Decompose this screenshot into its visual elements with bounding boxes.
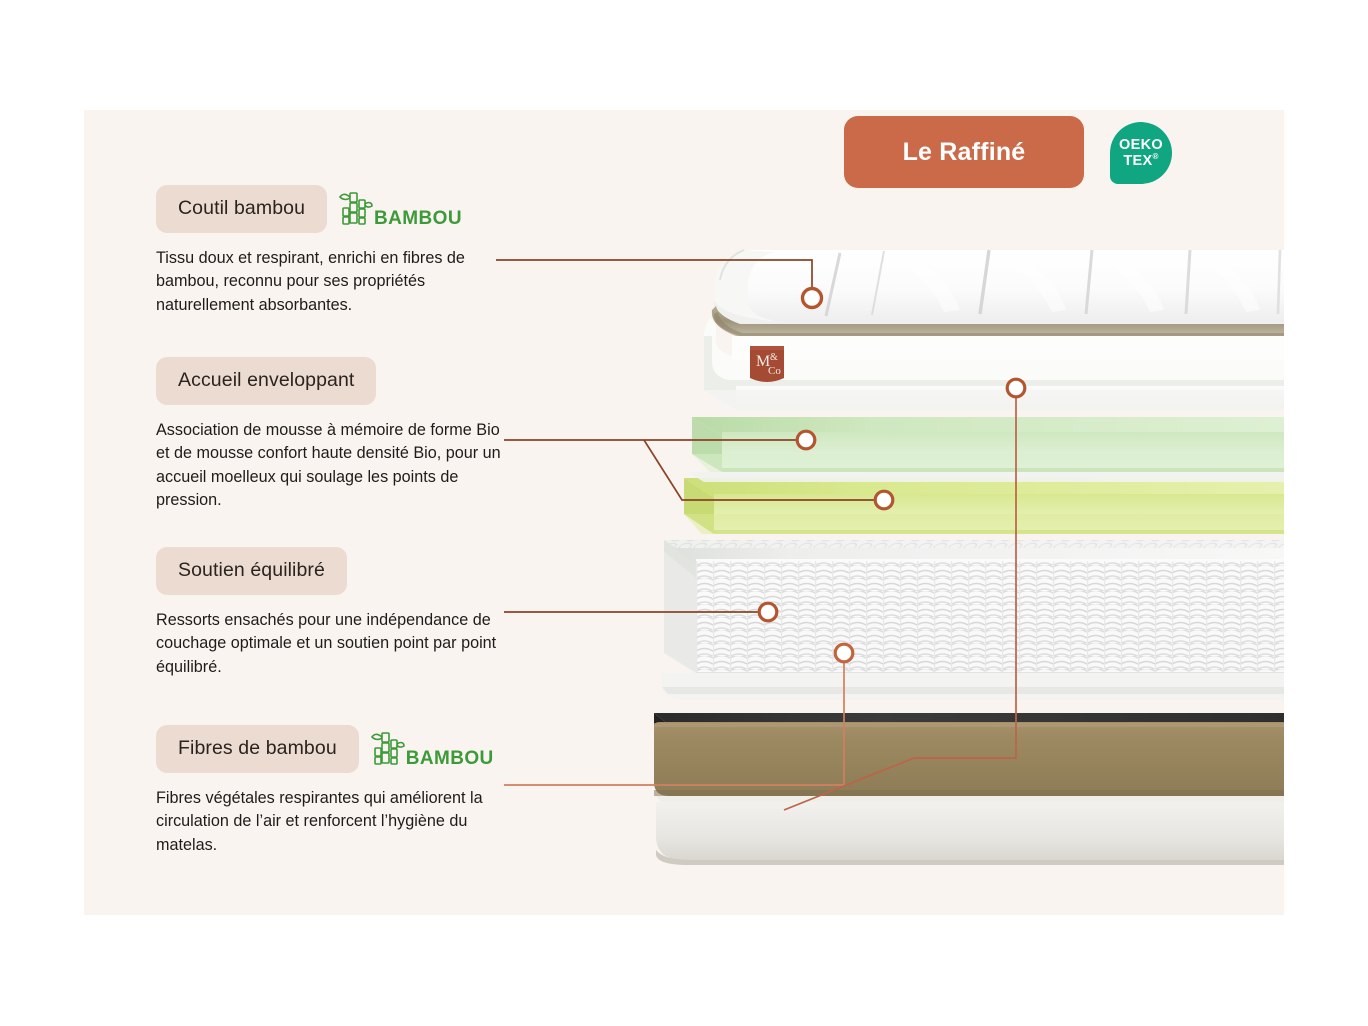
feature-title-pill: Fibres de bambou: [156, 725, 359, 773]
feature-block-soutien-equilibre: Soutien équilibré Ressorts ensachés pour…: [156, 547, 516, 679]
feature-block-fibres-de-bambou: Fibres de bambou: [156, 725, 516, 857]
bamboo-plant-icon: [371, 729, 405, 769]
feature-title-pill: Soutien équilibré: [156, 547, 347, 595]
marker-comfort-foam: [875, 491, 893, 509]
feature-title-pill: Accueil enveloppant: [156, 357, 376, 405]
oeko-line-2: TEX®: [1123, 153, 1158, 168]
bambou-logo-2: BAMBOU: [371, 729, 494, 769]
connector-fibres-bambou: [504, 662, 844, 785]
connector-fibres-branch: [784, 398, 1016, 810]
feature-description: Fibres végétales respirantes qui amélior…: [156, 787, 508, 857]
feature-block-accueil-enveloppant: Accueil enveloppant Association de mouss…: [156, 357, 516, 513]
registered-mark-icon: ®: [1152, 152, 1158, 161]
bamboo-plant-icon: [339, 189, 373, 229]
feature-description: Tissu doux et respirant, enrichi en fibr…: [156, 247, 508, 317]
feature-description: Association de mousse à mémoire de forme…: [156, 419, 508, 513]
bambou-logo-1: BAMBOU: [339, 189, 462, 229]
page-title: Le Raffiné: [903, 138, 1026, 167]
marker-pocket-springs: [759, 603, 777, 621]
feature-title-pill: Coutil bambou: [156, 185, 327, 233]
marker-top-cover-side: [1007, 379, 1025, 397]
marker-memory-foam: [797, 431, 815, 449]
marker-bamboo-base: [835, 644, 853, 662]
connector-accueil-lower: [504, 440, 874, 500]
connector-coutil-bambou: [496, 260, 812, 288]
callout-markers: [759, 289, 1025, 662]
bambou-label-2: BAMBOU: [406, 749, 494, 768]
bambou-label-1: BAMBOU: [374, 209, 462, 228]
feature-description: Ressorts ensachés pour une indépendance …: [156, 609, 508, 679]
product-title-badge: Le Raffiné: [844, 116, 1084, 188]
feature-block-coutil-bambou: Coutil bambou B: [156, 185, 516, 317]
oeko-tex-certification-badge: OEKO TEX®: [1110, 122, 1172, 184]
oeko-line-1: OEKO: [1119, 138, 1163, 153]
marker-coutil-bambou: [803, 289, 822, 308]
infographic-panel: M & Co: [84, 110, 1284, 915]
